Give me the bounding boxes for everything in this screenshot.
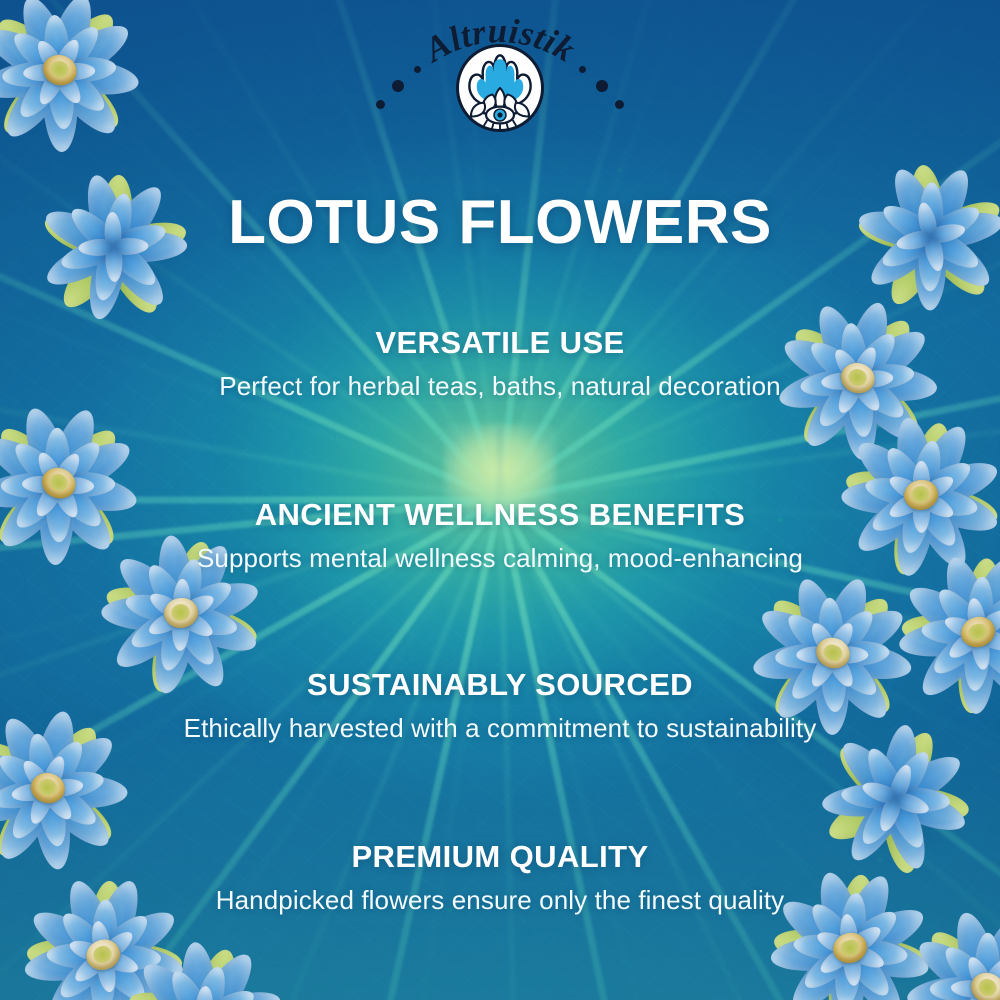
feature-title: ANCIENT WELLNESS BENEFITS — [60, 498, 940, 533]
poster-content: LOTUS FLOWERS VERSATILE USE Perfect for … — [0, 0, 1000, 1000]
feature-block-versatile-use: VERSATILE USE Perfect for herbal teas, b… — [60, 326, 940, 401]
feature-title: SUSTAINABLY SOURCED — [60, 668, 940, 703]
feature-block-premium-quality: PREMIUM QUALITY Handpicked flowers ensur… — [60, 840, 940, 915]
feature-title: VERSATILE USE — [60, 326, 940, 361]
feature-description: Supports mental wellness calming, mood-e… — [60, 544, 940, 573]
feature-description: Perfect for herbal teas, baths, natural … — [60, 372, 940, 401]
feature-block-sustainably-sourced: SUSTAINABLY SOURCED Ethically harvested … — [60, 668, 940, 743]
feature-block-ancient-wellness-benefits: ANCIENT WELLNESS BENEFITS Supports menta… — [60, 498, 940, 573]
feature-description: Handpicked flowers ensure only the fines… — [60, 886, 940, 915]
page-title: LOTUS FLOWERS — [0, 192, 1000, 254]
feature-title: PREMIUM QUALITY — [60, 840, 940, 875]
feature-description: Ethically harvested with a commitment to… — [60, 714, 940, 743]
lotus-flowers-poster: Altruistik — [0, 0, 1000, 1000]
